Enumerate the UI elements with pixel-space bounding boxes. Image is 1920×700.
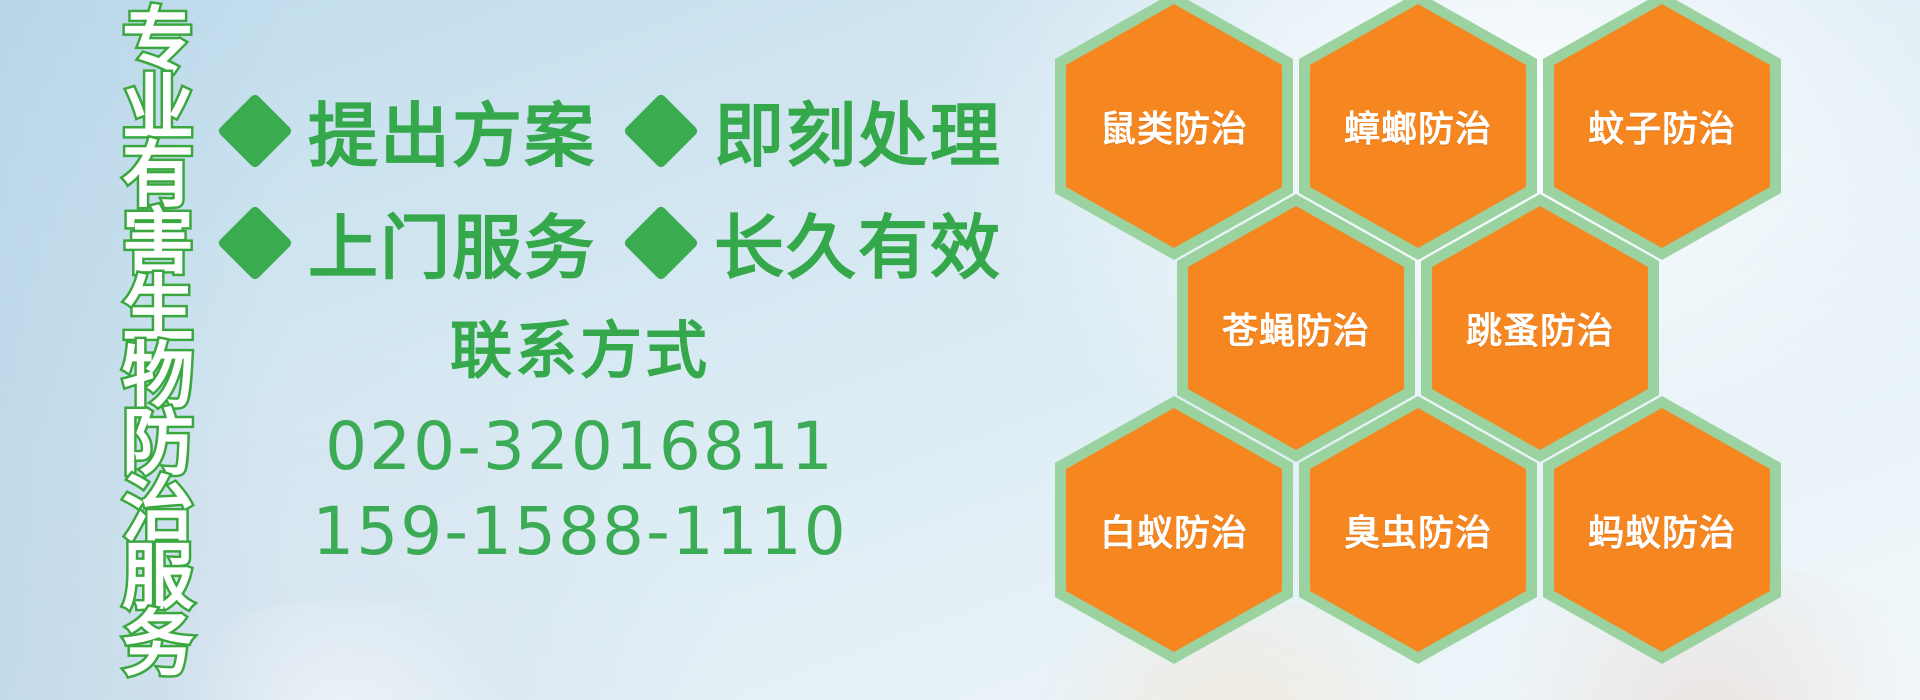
pest-control-banner: 专业有害生物防治服务 提出方案 即刻处理 上门服务 长久有效 联系方式 020-… [0, 0, 1920, 700]
service-hexagon-fill: 跳蚤防治 [1432, 206, 1648, 450]
vertical-headline-char-9: 务 [122, 611, 194, 678]
service-hexagon-label: 蚊子防治 [1588, 100, 1736, 152]
vertical-headline-char-4: 生 [122, 276, 194, 343]
vertical-headline-char-1: 业 [122, 75, 194, 142]
service-hexagon-fill: 苍蝇防治 [1188, 206, 1404, 450]
diamond-icon [623, 204, 699, 280]
vertical-headline-char-0: 专 [122, 8, 194, 75]
service-hexagon-label: 鼠类防治 [1100, 100, 1248, 152]
service-hexagon-label: 臭虫防治 [1344, 504, 1492, 556]
service-hexagon-label: 白蚁防治 [1100, 504, 1248, 556]
service-hexagon-fill: 蚊子防治 [1554, 4, 1770, 248]
vertical-headline-char-8: 服 [122, 544, 194, 611]
vertical-headline-char-5: 物 [122, 343, 194, 410]
feature-label-onsite-service: 上门服务 [308, 192, 596, 293]
vertical-headline-char-7: 治 [122, 477, 194, 544]
contact-block: 联系方式 020-32016811 159-1588-1110 [300, 318, 860, 574]
feature-label-propose-plan: 提出方案 [308, 80, 596, 181]
vertical-headline-char-2: 有 [122, 142, 194, 209]
feature-label-immediate-handling: 即刻处理 [714, 80, 1002, 181]
service-hexagon-fill: 蟑螂防治 [1310, 4, 1526, 248]
service-hexagon-fill: 臭虫防治 [1310, 408, 1526, 652]
vertical-headline: 专业有害生物防治服务 [104, 8, 212, 668]
service-hexagon-label: 蚂蚁防治 [1588, 504, 1736, 556]
service-honeycomb: 鼠类防治蟑螂防治蚊子防治苍蝇防治跳蚤防治白蚁防治臭虫防治蚂蚁防治 [1055, 0, 1815, 692]
service-hexagon-fill: 蚂蚁防治 [1554, 408, 1770, 652]
contact-label: 联系方式 [300, 318, 860, 383]
service-hexagon-label: 苍蝇防治 [1222, 302, 1370, 354]
vertical-headline-char-3: 害 [122, 209, 194, 276]
feature-row-1: 提出方案 即刻处理 [228, 80, 1002, 181]
service-hexagon-label: 蟑螂防治 [1344, 100, 1492, 152]
vertical-headline-char-6: 防 [122, 410, 194, 477]
phone-number-mobile[interactable]: 159-1588-1110 [300, 490, 860, 574]
feature-label-long-lasting: 长久有效 [714, 192, 1002, 293]
feature-row-2: 上门服务 长久有效 [228, 192, 1002, 293]
service-hexagon-fill: 白蚁防治 [1066, 408, 1282, 652]
diamond-icon [623, 92, 699, 168]
phone-number-landline[interactable]: 020-32016811 [300, 405, 860, 489]
diamond-icon [217, 92, 293, 168]
diamond-icon [217, 204, 293, 280]
service-hexagon-label: 跳蚤防治 [1466, 302, 1614, 354]
service-hexagon-fill: 鼠类防治 [1066, 4, 1282, 248]
